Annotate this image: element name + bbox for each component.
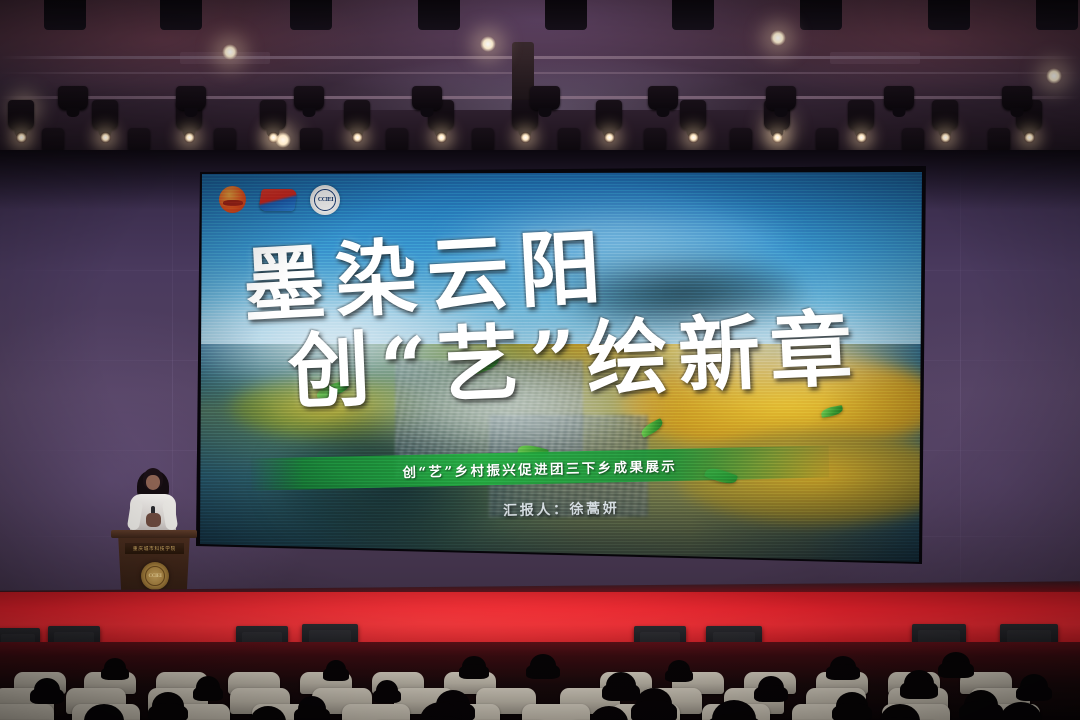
stage-light-beam [184,132,195,143]
stage-light-beam [352,132,363,143]
audience-head [104,658,126,678]
audience-head [668,660,690,680]
stage-light-beam [520,132,531,143]
led-presentation-screen[interactable]: CCIEI 墨染云阳 创“艺”绘新章 创“艺”乡村振兴促进团三下乡成果展示 汇报… [200,172,922,564]
podium-emblem-icon: CCIEI [141,562,169,590]
audience-head [34,678,60,702]
audience-seat [522,704,590,720]
stage-light-fixture [92,100,118,130]
podium-top-surface [111,530,197,538]
ceiling-soffit [545,0,587,30]
ceiling-soffit [1036,0,1078,30]
stage-light-fixture [848,100,874,130]
stage-light-beam [856,132,867,143]
podium-nameplate: 重庆城市科技学院 [125,543,184,554]
audience-seat [342,704,410,720]
slide-content: CCIEI 墨染云阳 创“艺”绘新章 创“艺”乡村振兴促进团三下乡成果展示 汇报… [200,172,922,564]
ceiling-downlight [770,30,786,46]
stage-light-beam [1024,132,1035,143]
presenter-hands [146,513,161,527]
audience-head [836,692,868,720]
stage-light-beam [688,132,699,143]
ceiling-soffit [290,0,332,30]
audience-seat [0,704,54,720]
stage-light-fixture [412,86,442,110]
ceiling-soffit [928,0,970,30]
stage-light-fixture [680,100,706,130]
lighting-truss [0,56,1080,59]
audience-head [758,676,784,700]
podium-nameplate-text: 重庆城市科技学院 [133,546,176,552]
audience-head [964,690,998,720]
audience-head [942,652,970,676]
mist-cloud [445,203,792,281]
stage-light-fixture [766,86,796,110]
lighting-truss [0,72,1080,74]
audience-head [298,696,326,720]
ceiling-soffit [44,0,86,30]
ceiling-soffit [672,0,714,30]
ceiling-soffit [160,0,202,30]
mist-cloud [359,360,662,454]
mist-cloud [604,305,922,391]
stage-light-fixture [932,100,958,130]
podium-emblem-text: CCIEI [149,574,162,579]
stage-light-beam [940,132,951,143]
stage-light-fixture [530,86,560,110]
audience-head [1020,674,1048,699]
ceiling-soffit [800,0,842,30]
stage-light-fixture [260,100,286,130]
podium-emblem-ring: CCIEI [145,566,165,586]
cpc-emblem-logo-icon [219,186,246,213]
flag-logo-icon [259,189,298,211]
ceiling-downlight [1046,68,1062,84]
audience-head [152,692,184,720]
stage-light-fixture [8,100,34,130]
stage-light-fixture [176,86,206,110]
stage-light-fixture [294,86,324,110]
stage-light-fixture [1002,86,1032,110]
audience-head [636,688,672,720]
audience-area [0,642,1080,720]
ceiling-downlight [222,44,238,60]
auditorium-ceiling [0,0,1080,168]
ceiling-soffit [418,0,460,30]
seal-ring [314,189,336,211]
stage-light-beam [604,132,615,143]
audience-head [462,656,486,677]
stage-light-beam [436,132,447,143]
audience-head [376,680,398,701]
university-seal-logo-icon: CCIEI [310,185,340,215]
ceiling-downlight [480,36,496,52]
stage-light-fixture [648,86,678,110]
wall-seam [960,150,961,620]
audience-head [326,660,346,679]
stage-light-fixture [596,100,622,130]
stage-light-beam [268,132,279,143]
audience-head [530,654,556,677]
stage-light-beam [16,132,27,143]
audience-head [904,670,934,697]
audience-head [196,676,220,699]
slide-logo-row: CCIEI [219,185,340,215]
auditorium-stage-photo: CCIEI 墨染云阳 创“艺”绘新章 创“艺”乡村振兴促进团三下乡成果展示 汇报… [0,0,1080,720]
slide-subtitle-text: 创“艺”乡村振兴促进团三下乡成果展示 [402,455,677,481]
stage-light-fixture [884,86,914,110]
stage-light-beam [100,132,111,143]
presenter-face [146,475,160,490]
stage-light-fixture [344,100,370,130]
stage-light-beam [772,132,783,143]
stage-light-fixture [58,86,88,110]
audience-head [830,656,856,678]
audience-head [606,672,636,699]
